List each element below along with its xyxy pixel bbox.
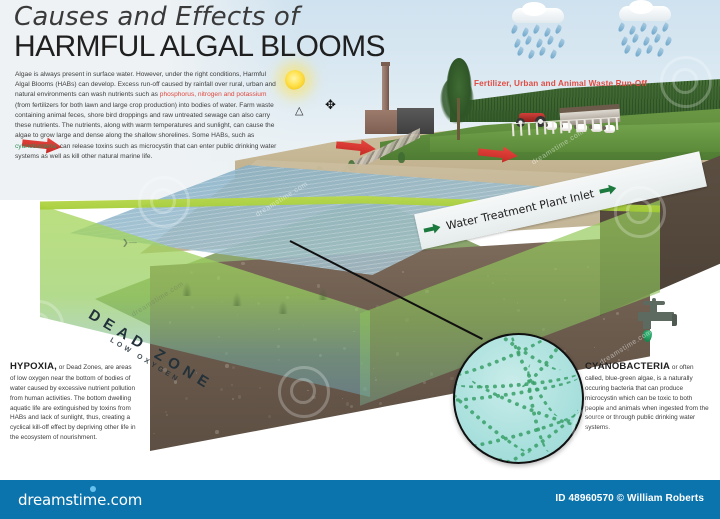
hypoxia-callout: HYPOXIA, or Dead Zones, are areas of low… [10, 360, 138, 443]
soil-speck [617, 434, 620, 437]
rain-drop-icon [524, 35, 533, 45]
faucet-icon [634, 301, 678, 341]
hypoxia-callout-body: or Dead Zones, are areas of low oxygen n… [10, 364, 136, 441]
aquatic-weed [182, 282, 192, 296]
fence-post [544, 122, 546, 134]
rain-drop-icon [510, 24, 519, 34]
soil-speck [627, 349, 629, 351]
soil-speck [379, 402, 382, 405]
logo-dot-icon [90, 486, 96, 492]
green-arrow-right-icon [423, 222, 442, 235]
soil-speck [240, 439, 243, 442]
rain-drop-icon [617, 22, 626, 32]
rain-drop-icon [639, 22, 648, 32]
bird-icon: △ [295, 106, 303, 117]
soil-speck [398, 405, 400, 407]
soil-speck [268, 415, 271, 418]
soil-speck [215, 430, 219, 434]
rain-drop-icon [549, 49, 558, 59]
soil-speck [312, 396, 316, 400]
soil-speck [185, 397, 188, 400]
rain-drop-icon [661, 22, 670, 32]
soil-speck [165, 411, 167, 413]
rain-drop-icon [645, 44, 654, 54]
cyanobacteria-callout: CYANOBACTERIA or often called, blue-gree… [585, 360, 713, 433]
soil-speck [374, 419, 378, 423]
soil-speck [259, 387, 261, 389]
rain-cloud-icon [615, 6, 677, 58]
runoff-label: Fertilizer, Urban and Animal Waste Run-O… [474, 79, 647, 88]
dreamstime-logo-text: dreamstime.com [18, 491, 142, 509]
rain-drop-icon [516, 46, 525, 56]
image-credit: ID 48960570 © William Roberts [555, 493, 704, 504]
infographic-canvas: △ ✥ ❯— [0, 0, 720, 519]
aquatic-weed [278, 300, 288, 314]
soil-speck [232, 366, 235, 369]
cyanobacteria-callout-body: or often called, blue-green algae, is a … [585, 364, 709, 431]
soil-speck [238, 395, 241, 398]
green-arrow-right-icon [599, 183, 618, 196]
fence-post [520, 124, 522, 136]
rain-drop-icon [631, 33, 640, 43]
soil-speck [231, 384, 233, 386]
rain-drop-icon [554, 24, 563, 34]
footer-bar: dreamstime.com ID 48960570 © William Rob… [0, 480, 720, 519]
shrub [398, 152, 405, 163]
soil-speck [342, 398, 343, 399]
fence-post [576, 120, 578, 132]
rain-drop-icon [653, 33, 662, 43]
rain-drop-icon [557, 38, 566, 48]
bird-icon: ✥ [325, 98, 336, 111]
title-main-line: HARMFUL ALGAL BLOOMS [14, 31, 394, 62]
factory-building [397, 108, 434, 134]
fence-post [592, 119, 594, 131]
page-title: Causes and Effects of HARMFUL ALGAL BLOO… [14, 4, 394, 62]
rain-drop-icon [527, 49, 536, 59]
fence-post [584, 120, 586, 132]
fence-post [536, 123, 538, 135]
aquatic-weed [232, 292, 242, 306]
rain-drop-icon [634, 47, 643, 57]
cyanobacteria-callout-lead: CYANOBACTERIA [585, 361, 670, 372]
fish-icon: ❯— [122, 238, 137, 247]
soil-speck [446, 396, 449, 399]
soil-speck [302, 267, 303, 268]
rain-drop-icon [532, 24, 541, 34]
soil-speck [603, 318, 605, 320]
soil-speck [616, 312, 620, 316]
soil-speck [350, 405, 354, 409]
fence-post [528, 123, 530, 135]
soil-speck [225, 364, 228, 367]
rain-drop-icon [664, 36, 673, 46]
fence-post [608, 118, 610, 130]
intro-paragraph: Algae is always present in surface water… [15, 70, 277, 162]
rain-drop-icon [546, 35, 555, 45]
tree-icon [438, 58, 478, 138]
soil-speck [355, 423, 358, 426]
dreamstime-logo[interactable]: dreamstime.com [18, 491, 142, 509]
fence-post [600, 119, 602, 131]
rain-drop-icon [656, 47, 665, 57]
intro-text-part2: (from fertilizers for both lawn and larg… [15, 102, 274, 140]
soil-speck [232, 398, 233, 399]
soil-speck [153, 433, 154, 434]
fence-post [512, 124, 514, 136]
soil-speck [241, 262, 244, 265]
factory-building [365, 110, 397, 134]
soil-speck [594, 347, 595, 348]
fence-post [552, 122, 554, 134]
aquatic-weed [318, 286, 328, 300]
fence-post [560, 121, 562, 133]
rain-cloud-icon [508, 8, 570, 60]
soil-speck [307, 390, 309, 392]
green-water-drop-icon [643, 330, 652, 342]
soil-speck [346, 402, 350, 406]
rain-drop-icon [623, 44, 632, 54]
rain-drop-icon [538, 46, 547, 56]
soil-speck [328, 427, 330, 429]
intro-nutrients-highlight: phosphorus, nitrogen and potassium [160, 91, 267, 98]
magnifier-circle-icon [453, 333, 584, 464]
sun-icon [285, 70, 305, 90]
soil-speck [166, 414, 168, 416]
fence-post [616, 118, 618, 130]
title-script-line: Causes and Effects of [14, 4, 394, 30]
soil-speck [402, 271, 404, 273]
fence-post [568, 121, 570, 133]
hypoxia-callout-lead: HYPOXIA, [10, 361, 57, 372]
soil-speck [405, 413, 409, 417]
soil-speck [450, 377, 454, 381]
intro-cyanobacteria-highlight: cyanobacteria [15, 143, 56, 150]
